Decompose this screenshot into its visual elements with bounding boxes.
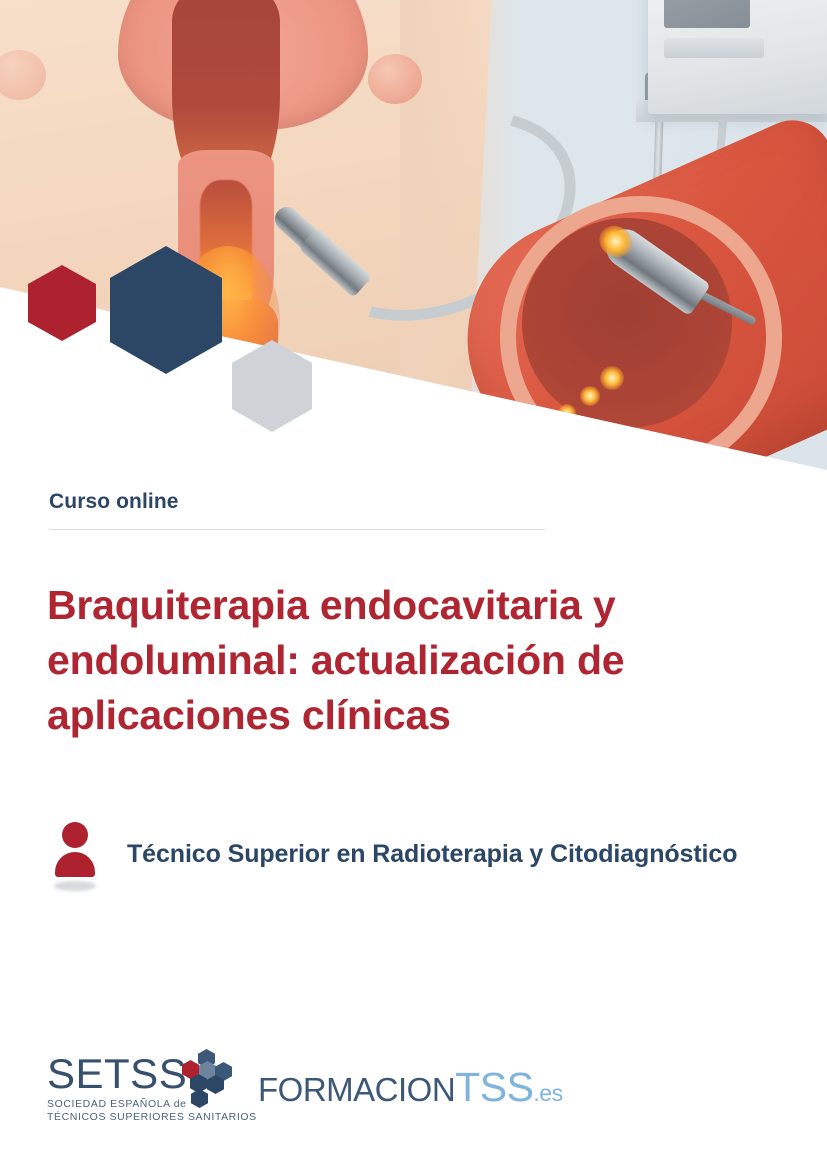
page-title: Braquiterapia endocavitaria y endolumina… bbox=[47, 578, 687, 742]
poster-content: Curso online Braquiterapia endocavitaria… bbox=[0, 0, 827, 1169]
formaciontss-part-tss: TSS bbox=[455, 1064, 533, 1110]
audience-row: Técnico Superior en Radioterapia y Citod… bbox=[49, 818, 737, 890]
course-poster: Curso online Braquiterapia endocavitaria… bbox=[0, 0, 827, 1169]
kicker-divider bbox=[49, 529, 545, 530]
person-body bbox=[55, 852, 95, 877]
person-head bbox=[62, 822, 88, 848]
setss-hexagon-cluster-icon bbox=[178, 1051, 234, 1113]
formaciontss-part-formacion: FORMACION bbox=[258, 1071, 455, 1108]
setss-logo[interactable]: SETSS SOCIEDAD ESPAÑOLA de TÉCNICOS SUPE… bbox=[47, 1053, 227, 1125]
person-icon bbox=[49, 818, 101, 890]
course-kicker: Curso online bbox=[49, 490, 179, 514]
audience-label: Técnico Superior en Radioterapia y Citod… bbox=[127, 840, 737, 869]
formaciontss-part-es: .es bbox=[533, 1080, 562, 1106]
cluster-hex-7 bbox=[191, 1089, 208, 1108]
footer-logos: SETSS SOCIEDAD ESPAÑOLA de TÉCNICOS SUPE… bbox=[0, 1045, 827, 1135]
setss-tagline-line-1-caps: SOCIEDAD ESPAÑOLA bbox=[47, 1098, 174, 1110]
formaciontss-logo[interactable]: FORMACIONTSS.es bbox=[258, 1067, 563, 1108]
person-shadow bbox=[54, 881, 96, 891]
